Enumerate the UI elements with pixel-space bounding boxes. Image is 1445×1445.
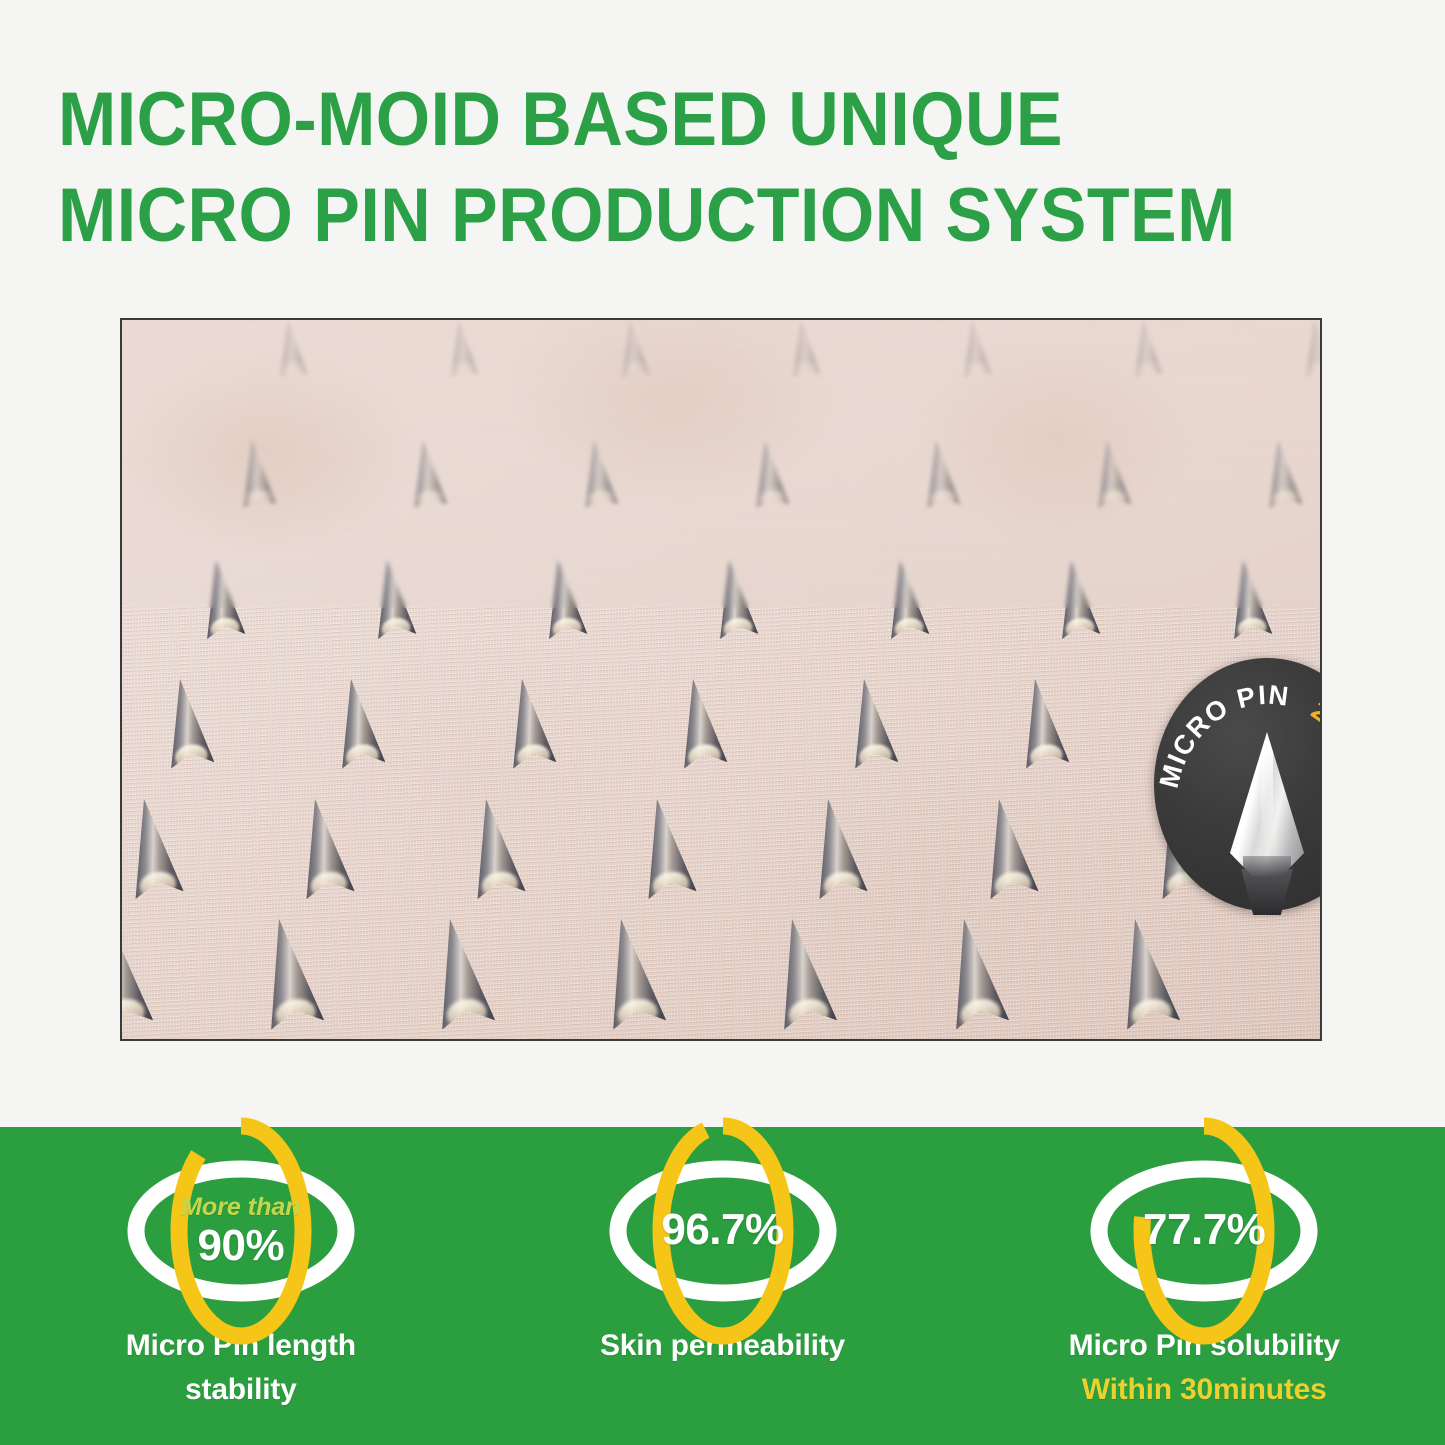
micro-mold-photo: MICRO PIN 200EA <box>120 318 1322 1041</box>
page-title-line-2: MICRO PIN PRODUCTION SYSTEM <box>58 168 1272 264</box>
badge-label-yellow: 200EA <box>1306 695 1322 789</box>
micro-pin-body <box>500 676 556 769</box>
micro-pin-body <box>633 795 697 899</box>
progress-ring-1: 96.7% <box>603 1160 843 1302</box>
progress-ring-2: 77.7% <box>1084 1160 1324 1302</box>
progress-ring-svg-1 <box>603 1160 843 1302</box>
micro-pin <box>634 796 680 803</box>
micro-pin-body <box>329 676 385 769</box>
micro-pin-body <box>424 914 496 1029</box>
stats-panel: More than 90% Micro Pin length stability… <box>0 1127 1445 1445</box>
micro-pin <box>121 796 167 803</box>
micro-pin <box>425 915 476 924</box>
micro-pin-body <box>252 914 324 1029</box>
micro-pin <box>254 915 305 924</box>
page-title: MICRO-MOID BASED UNIQUE MICRO PIN PRODUC… <box>58 72 1378 264</box>
micro-pin <box>596 915 647 924</box>
micro-pin-body <box>1108 914 1180 1029</box>
progress-ring-0: More than 90% <box>121 1160 361 1302</box>
micro-pin-body <box>672 676 728 769</box>
micro-pin <box>1109 915 1160 924</box>
micro-pin <box>805 796 851 803</box>
micro-pin <box>938 915 989 924</box>
micro-pin-body <box>158 676 214 769</box>
stat-micro-pin-solubility: 77.7% Micro Pin solubility Within 30minu… <box>963 1127 1445 1445</box>
micro-pin-body <box>120 914 153 1029</box>
stats-row: More than 90% Micro Pin length stability… <box>0 1127 1445 1445</box>
micro-pin <box>292 796 338 803</box>
micro-pin <box>120 915 133 924</box>
stat-skin-permeability: 96.7% Skin permeability <box>482 1127 964 1445</box>
micro-pin <box>767 915 818 924</box>
micro-pin-body <box>937 914 1009 1029</box>
micro-pin-body <box>1014 676 1070 769</box>
photo-depth-blur <box>122 320 1320 608</box>
micro-pin <box>1015 676 1056 682</box>
micro-pin <box>501 676 542 682</box>
micro-pin-body <box>804 795 868 899</box>
micro-pin-body <box>843 676 899 769</box>
micro-pin <box>844 676 885 682</box>
progress-ring-svg-2 <box>1084 1160 1324 1302</box>
micro-pin <box>672 676 713 682</box>
micro-pin-body <box>291 795 355 899</box>
micro-pin-body <box>120 795 183 899</box>
micro-pin-body <box>766 914 838 1029</box>
micro-pin-body <box>975 795 1039 899</box>
badge-arc-text: MICRO PIN 200EA <box>1154 658 1322 911</box>
page-title-line-1: MICRO-MOID BASED UNIQUE <box>58 72 1272 168</box>
progress-ring-svg-0 <box>121 1160 361 1302</box>
micro-pin-body <box>462 795 526 899</box>
stat-label-line-0b: stability <box>185 1373 297 1406</box>
stat-micro-pin-length-stability: More than 90% Micro Pin length stability <box>0 1127 482 1445</box>
micro-pin-count-badge: MICRO PIN 200EA <box>1154 658 1322 911</box>
stat-sublabel-2: Within 30minutes <box>1069 1368 1340 1412</box>
micro-pin <box>330 676 371 682</box>
micro-pin <box>159 676 200 682</box>
micro-pin-body <box>595 914 667 1029</box>
micro-pin <box>463 796 509 803</box>
micro-pin <box>976 796 1022 803</box>
